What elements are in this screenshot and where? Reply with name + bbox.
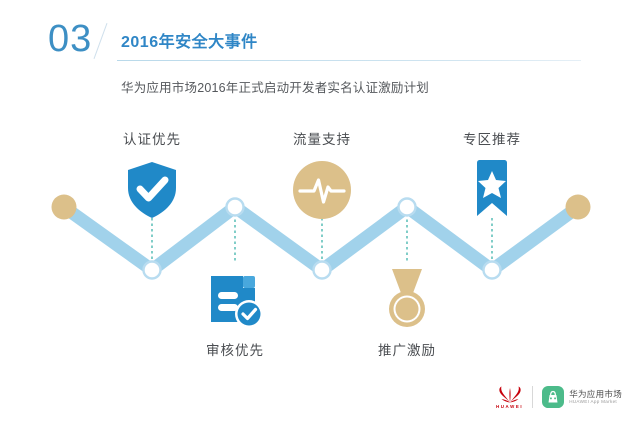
huawei-logo: HUAWEI — [496, 386, 523, 409]
footer-logo-group: HUAWEI 华为应用市场 HUAWEI App Market — [496, 386, 622, 409]
medal-icon[interactable] — [375, 266, 439, 330]
timeline-node-1[interactable] — [144, 262, 161, 279]
appmarket-text-block: 华为应用市场 HUAWEI App Market — [569, 390, 622, 404]
header-slash-divider — [94, 23, 108, 59]
endpoint-node-left — [52, 195, 77, 220]
timeline-node-3[interactable] — [314, 262, 331, 279]
step-label-2: 审核优先 — [206, 339, 264, 359]
step-label-5: 专区推荐 — [463, 128, 521, 148]
document-check-icon[interactable] — [203, 270, 267, 334]
huawei-flower-icon — [497, 386, 523, 403]
page-title: 2016年安全大事件 — [121, 28, 258, 52]
appmarket-logo: 华为应用市场 HUAWEI App Market — [542, 386, 622, 408]
shield-check-icon[interactable] — [120, 158, 184, 222]
appmarket-name-en: HUAWEI App Market — [569, 400, 622, 405]
step-label-4: 推广激励 — [378, 339, 436, 359]
huawei-wordmark: HUAWEI — [496, 405, 523, 409]
step-label-3: 流量支持 — [293, 128, 351, 148]
timeline-node-5[interactable] — [484, 262, 501, 279]
endpoint-node-right — [566, 195, 591, 220]
slide-canvas: 03 2016年安全大事件 华为应用市场2016年正式启动开发者实名认证激励计划… — [0, 0, 640, 427]
timeline-node-2[interactable] — [227, 199, 244, 216]
header-divider-rule — [117, 60, 581, 61]
bookmark-star-icon[interactable] — [460, 158, 524, 222]
appmarket-name-cn: 华为应用市场 — [569, 390, 622, 399]
step-label-1: 认证优先 — [123, 128, 181, 148]
page-subtitle: 华为应用市场2016年正式启动开发者实名认证激励计划 — [121, 77, 429, 96]
page-number-text: 03 — [48, 20, 92, 58]
logo-divider — [532, 386, 533, 408]
appmarket-bag-icon — [542, 386, 564, 408]
timeline-node-4[interactable] — [399, 199, 416, 216]
pulse-circle-icon[interactable] — [290, 158, 354, 222]
